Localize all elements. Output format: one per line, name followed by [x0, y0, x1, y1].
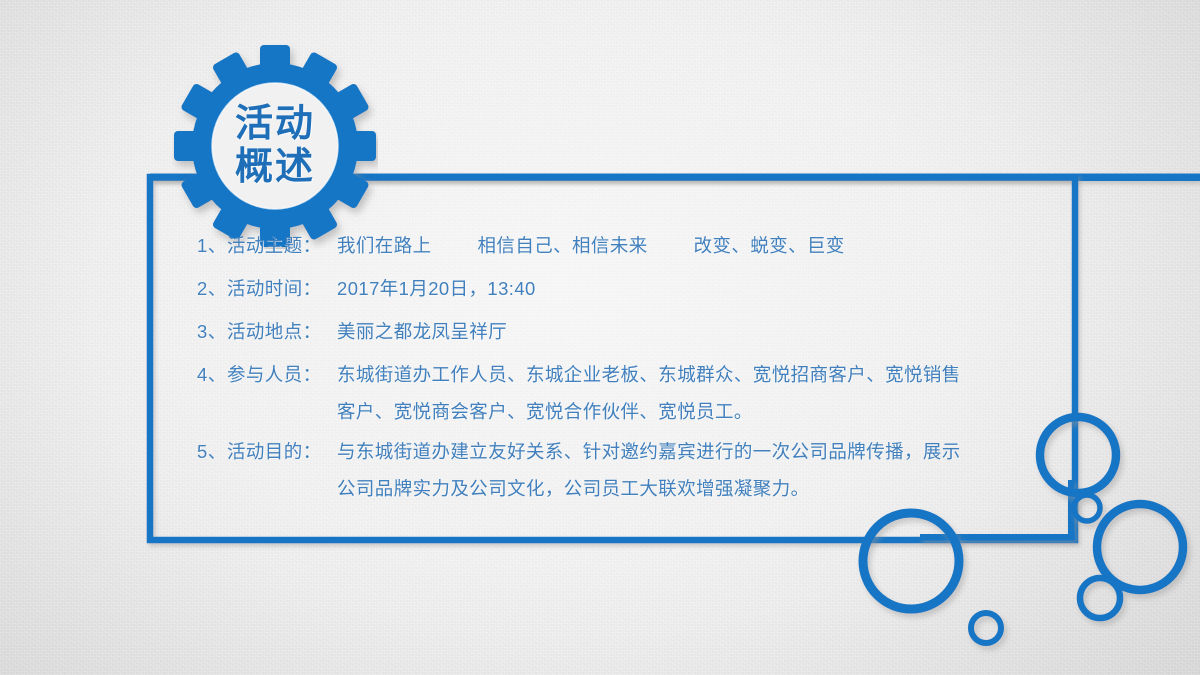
item-number: 4、: [197, 361, 227, 387]
badge-title-line-1: 活动: [235, 104, 315, 145]
item-value-part-3: 改变、蜕变、巨变: [694, 235, 845, 256]
item-number: 5、: [197, 438, 227, 464]
item-value: 东城街道办工作人员、东城企业老板、东城群众、宽悦招商客户、宽悦销售: [337, 361, 1047, 387]
item-value: 我们在路上相信自己、相信未来改变、蜕变、巨变: [337, 232, 1047, 258]
item-value-continued: 公司品牌实力及公司文化，公司员工大联欢增强凝聚力。: [337, 475, 1047, 501]
item-value: 美丽之都龙凤呈祥厅: [337, 318, 1047, 344]
list-item: 2、 活动时间： 2017年1月20日，13:40: [197, 275, 1047, 301]
list-item: 1、 活动主题： 我们在路上相信自己、相信未来改变、蜕变、巨变: [197, 232, 1047, 258]
list-item-continuation: 客户、宽悦商会客户、宽悦合作伙伴、宽悦员工。: [197, 398, 1047, 424]
list-item: 3、 活动地点： 美丽之都龙凤呈祥厅: [197, 318, 1047, 344]
item-number: 2、: [197, 275, 227, 301]
item-label: 活动时间：: [227, 275, 337, 301]
item-label: 参与人员：: [227, 361, 337, 387]
item-number: 3、: [197, 318, 227, 344]
decorative-circle-small-mid: [1080, 578, 1120, 618]
item-value: 与东城街道办建立友好关系、针对邀约嘉宾进行的一次公司品牌传播，展示: [337, 438, 1047, 464]
list-item: 4、 参与人员： 东城街道办工作人员、东城企业老板、东城群众、宽悦招商客户、宽悦…: [197, 361, 1047, 387]
slide-canvas: 活动 概述 1、 活动主题： 我们在路上相信自己、相信未来改变、蜕变、巨变 2、…: [0, 0, 1200, 675]
decorative-circle-tiny-bottom: [971, 613, 1001, 643]
item-label: 活动地点：: [227, 318, 337, 344]
list-item-continuation: 公司品牌实力及公司文化，公司员工大联欢增强凝聚力。: [197, 475, 1047, 501]
item-value-part-2: 相信自己、相信未来: [478, 235, 648, 256]
item-label: 活动目的：: [227, 438, 337, 464]
item-number: 1、: [197, 232, 227, 258]
decorative-circle-large-left: [863, 513, 959, 609]
item-value-continued: 客户、宽悦商会客户、宽悦合作伙伴、宽悦员工。: [337, 398, 1047, 424]
list-item: 5、 活动目的： 与东城街道办建立友好关系、针对邀约嘉宾进行的一次公司品牌传播，…: [197, 438, 1047, 464]
overview-list: 1、 活动主题： 我们在路上相信自己、相信未来改变、蜕变、巨变 2、 活动时间：…: [197, 232, 1047, 515]
item-value-part-1: 我们在路上: [337, 235, 432, 256]
item-value: 2017年1月20日，13:40: [337, 275, 1047, 301]
badge-title: 活动 概述: [172, 43, 378, 249]
item-label: 活动主题：: [227, 232, 337, 258]
badge-title-line-2: 概述: [235, 147, 315, 188]
